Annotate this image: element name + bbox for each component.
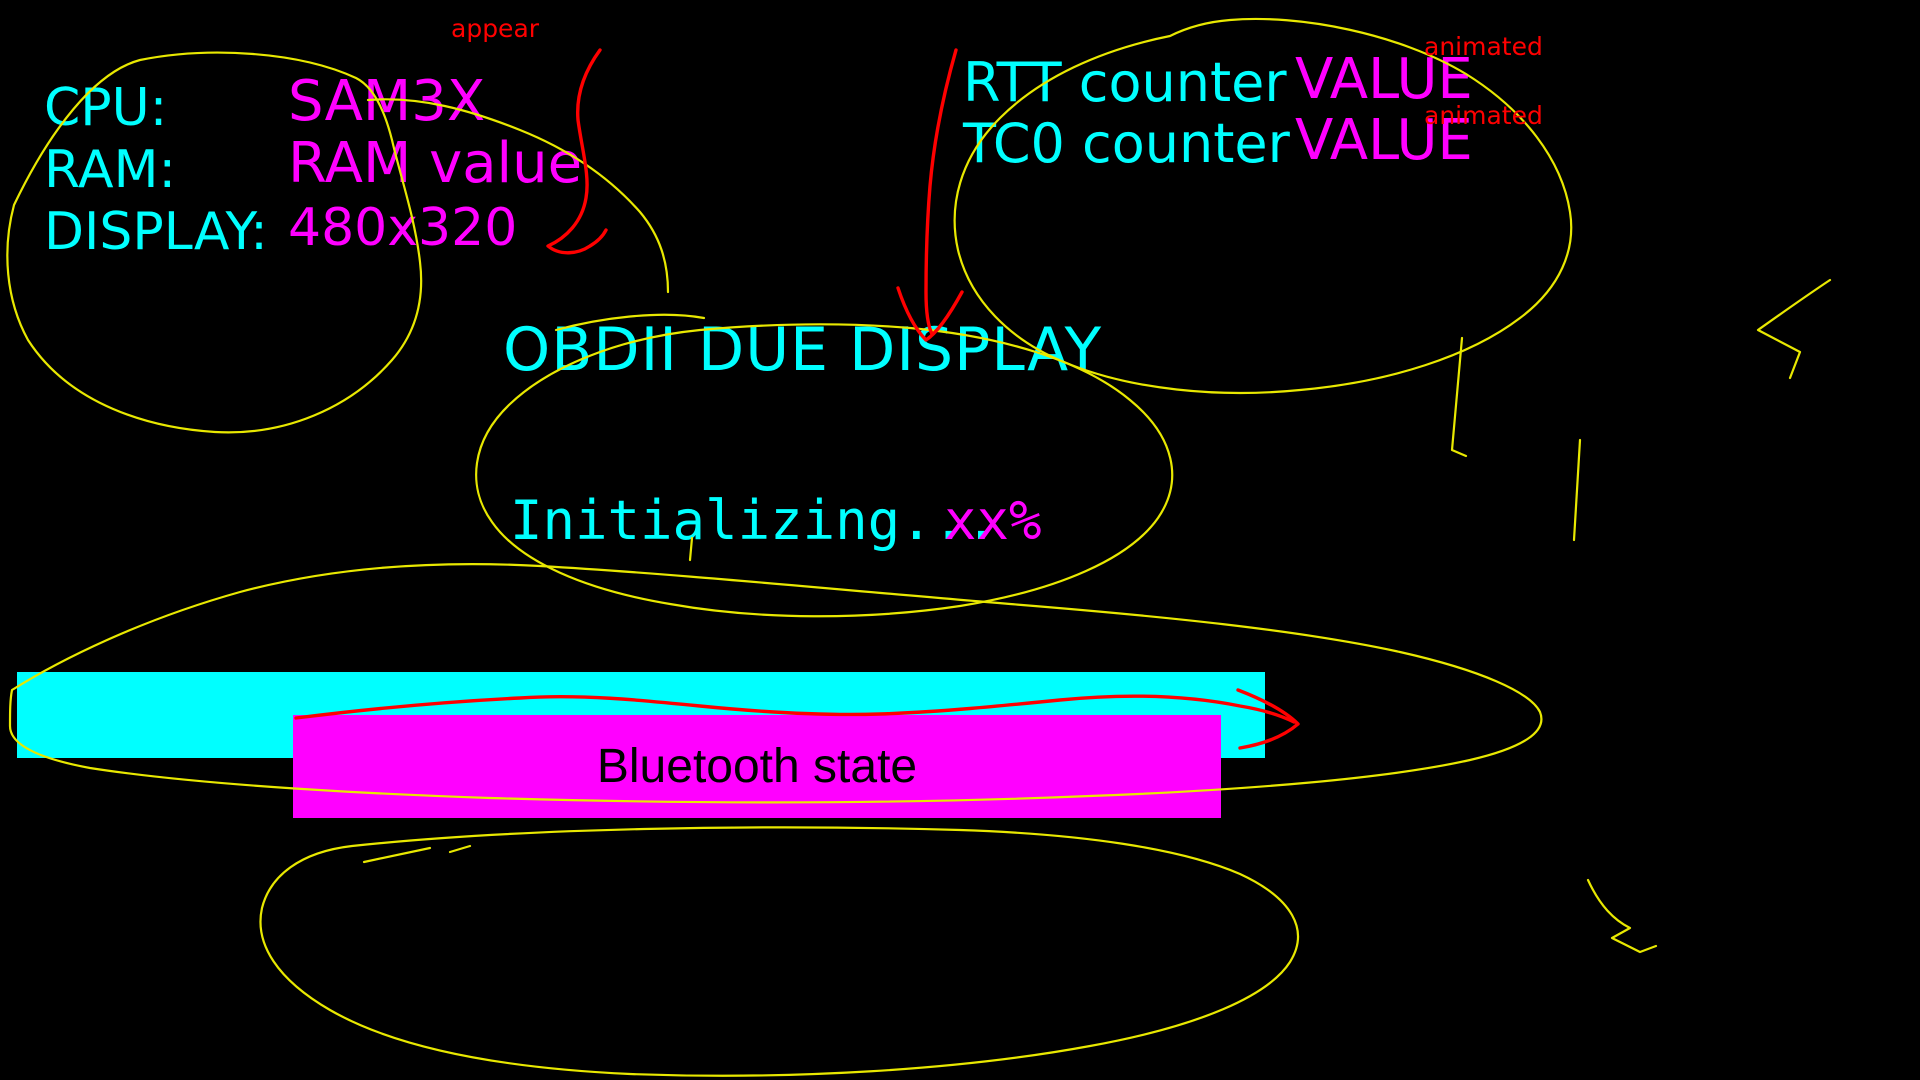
callout-mark-right-lower <box>1588 880 1656 952</box>
arrow-title-shaft <box>926 50 956 334</box>
tc0-animated-annotation: animated <box>1424 103 1543 128</box>
callout-tick-right-mid <box>1452 338 1466 456</box>
cpu-label: CPU: <box>44 82 167 134</box>
callout-mark-right-upper <box>1758 280 1830 378</box>
display-value: 480x320 <box>288 202 517 254</box>
rtt-counter-label: RTT counter <box>963 56 1287 110</box>
bluetooth-state-bar[interactable]: Bluetooth state <box>293 715 1221 818</box>
callout-lens-bluetooth <box>260 827 1297 1075</box>
progress-percent-text: xx% <box>944 494 1042 548</box>
initializing-text: Initializing... <box>510 494 998 548</box>
appear-annotation: appear <box>451 16 539 41</box>
ram-label: RAM: <box>44 144 176 196</box>
cpu-value: SAM3X <box>288 74 485 130</box>
ram-value: RAM value <box>288 136 582 192</box>
tc0-counter-label: TC0 counter <box>963 117 1290 171</box>
bluetooth-state-label: Bluetooth state <box>597 739 917 794</box>
rtt-animated-annotation: animated <box>1424 34 1543 59</box>
callout-stroke-bluetooth-tail <box>364 846 470 862</box>
device-screen: CPU: SAM3X RAM: RAM value DISPLAY: 480x3… <box>0 0 1920 1080</box>
page-title: OBDII DUE DISPLAY <box>503 320 1102 380</box>
display-label: DISPLAY: <box>44 206 268 258</box>
callout-tick-mid-right <box>1574 440 1580 540</box>
